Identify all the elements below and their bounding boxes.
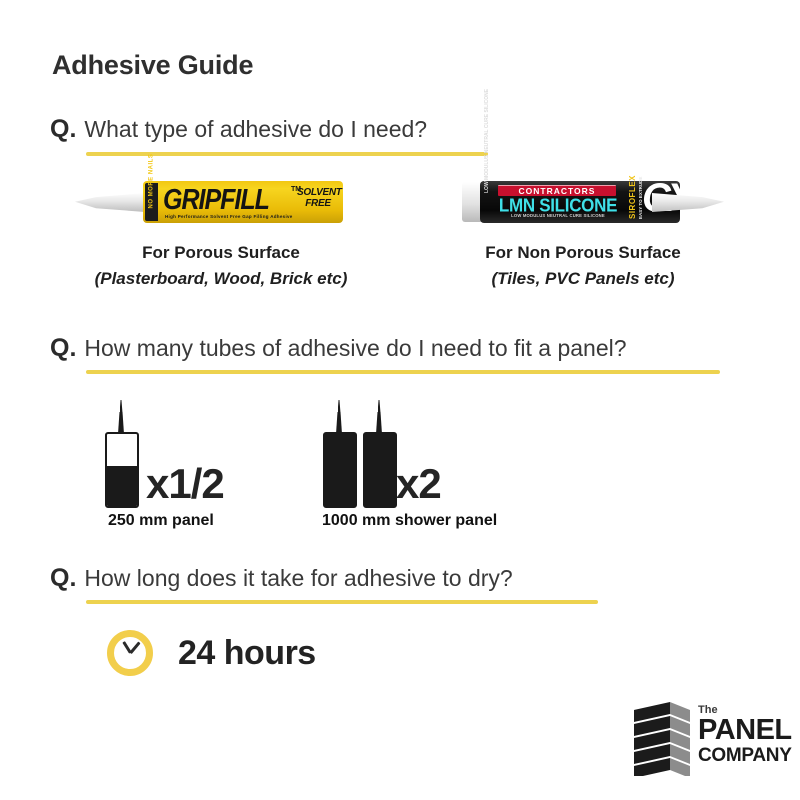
question-3-marker: Q. <box>50 564 76 593</box>
question-1-underline <box>86 152 488 156</box>
half-tube-body <box>105 432 139 508</box>
half-tube-caption: 250 mm panel <box>108 512 214 530</box>
gripfill-microtext: High Performance Solvent Free Gap Fillin… <box>165 214 293 219</box>
clock-icon <box>107 630 153 676</box>
gripfill-side-label: NO MORE NAILS <box>145 183 158 221</box>
question-3: Q. How long does it take for adhesive to… <box>50 564 513 593</box>
full-tube-2-body <box>363 432 397 508</box>
silicone-subtitle: LOW MODULUS NEUTRAL CURE SILICONE <box>498 213 618 218</box>
full-tube-1-nozzle-icon <box>335 400 343 434</box>
gripfill-tagline: SOLVENT FREE <box>297 187 339 209</box>
logo-company: COMPANY <box>698 745 784 766</box>
question-3-text: How long does it take for adhesive to dr… <box>84 565 512 592</box>
question-2-marker: Q. <box>50 334 76 363</box>
question-1-marker: Q. <box>50 115 76 144</box>
question-2: Q. How many tubes of adhesive do I need … <box>50 334 627 363</box>
question-2-underline <box>86 370 720 374</box>
question-3-underline <box>86 600 598 604</box>
gripfill-side-label-text: NO MORE NAILS <box>149 196 155 209</box>
gripfill-tagline-line1: SOLVENT <box>297 187 339 198</box>
gripfill-nozzle-icon <box>75 193 145 212</box>
full-tube-2-nozzle-icon <box>375 400 383 434</box>
full-tube-2-stem <box>376 412 382 434</box>
silicone-siroflex-label: SIROFLEX <box>628 175 637 219</box>
logo-wordmark: The PANEL COMPANY <box>698 704 784 766</box>
drying-time-answer: 24 hours <box>178 634 316 673</box>
gripfill-brand: GRIPFILL <box>163 184 269 217</box>
two-tubes-multiplier: x2 <box>396 460 441 508</box>
half-tube-stem <box>118 412 124 434</box>
adhesive-guide-infographic: Adhesive Guide Q. What type of adhesive … <box>0 0 800 800</box>
half-tube-multiplier: x1/2 <box>146 460 224 508</box>
full-tube-1-stem <box>336 412 342 434</box>
gripfill-tagline-line2: FREE <box>297 198 339 209</box>
gripfill-caption-line1: For Porous Surface <box>41 240 401 266</box>
page-title: Adhesive Guide <box>52 50 253 81</box>
silicone-side-text: LOW MODULUS NEUTRAL CURE SILICONE <box>484 89 490 193</box>
silicone-caption: For Non Porous Surface (Tiles, PVC Panel… <box>403 240 763 292</box>
lmn-silicone-tube: LOW MODULUS NEUTRAL CURE SILICONE CONTRA… <box>452 181 724 225</box>
clock-minute-hand <box>129 641 140 653</box>
logo-panel: PANEL <box>698 716 784 745</box>
full-tube-1-tip <box>338 400 341 413</box>
two-tubes-caption: 1000 mm shower panel <box>322 512 497 530</box>
question-1-text: What type of adhesive do I need? <box>84 116 427 143</box>
question-1: Q. What type of adhesive do I need? <box>50 115 427 144</box>
question-2-text: How many tubes of adhesive do I need to … <box>84 335 626 362</box>
gripfill-caption-line2: (Plasterboard, Wood, Brick etc) <box>41 266 401 292</box>
panel-stack-logo-icon <box>632 700 692 776</box>
gripfill-caption: For Porous Surface (Plasterboard, Wood, … <box>41 240 401 292</box>
full-tube-2-tip <box>378 400 381 413</box>
half-tube-tip <box>120 400 123 413</box>
gripfill-tube: NO MORE NAILS GRIPFILL TM SOLVENT FREE H… <box>75 181 347 225</box>
panel-company-logo: The PANEL COMPANY <box>632 698 782 780</box>
silicone-caption-line2: (Tiles, PVC Panels etc) <box>403 266 763 292</box>
half-tube-fill <box>107 466 137 506</box>
full-tube-1-body <box>323 432 357 508</box>
half-tube-nozzle-icon <box>117 400 125 434</box>
silicone-caption-line1: For Non Porous Surface <box>403 240 763 266</box>
